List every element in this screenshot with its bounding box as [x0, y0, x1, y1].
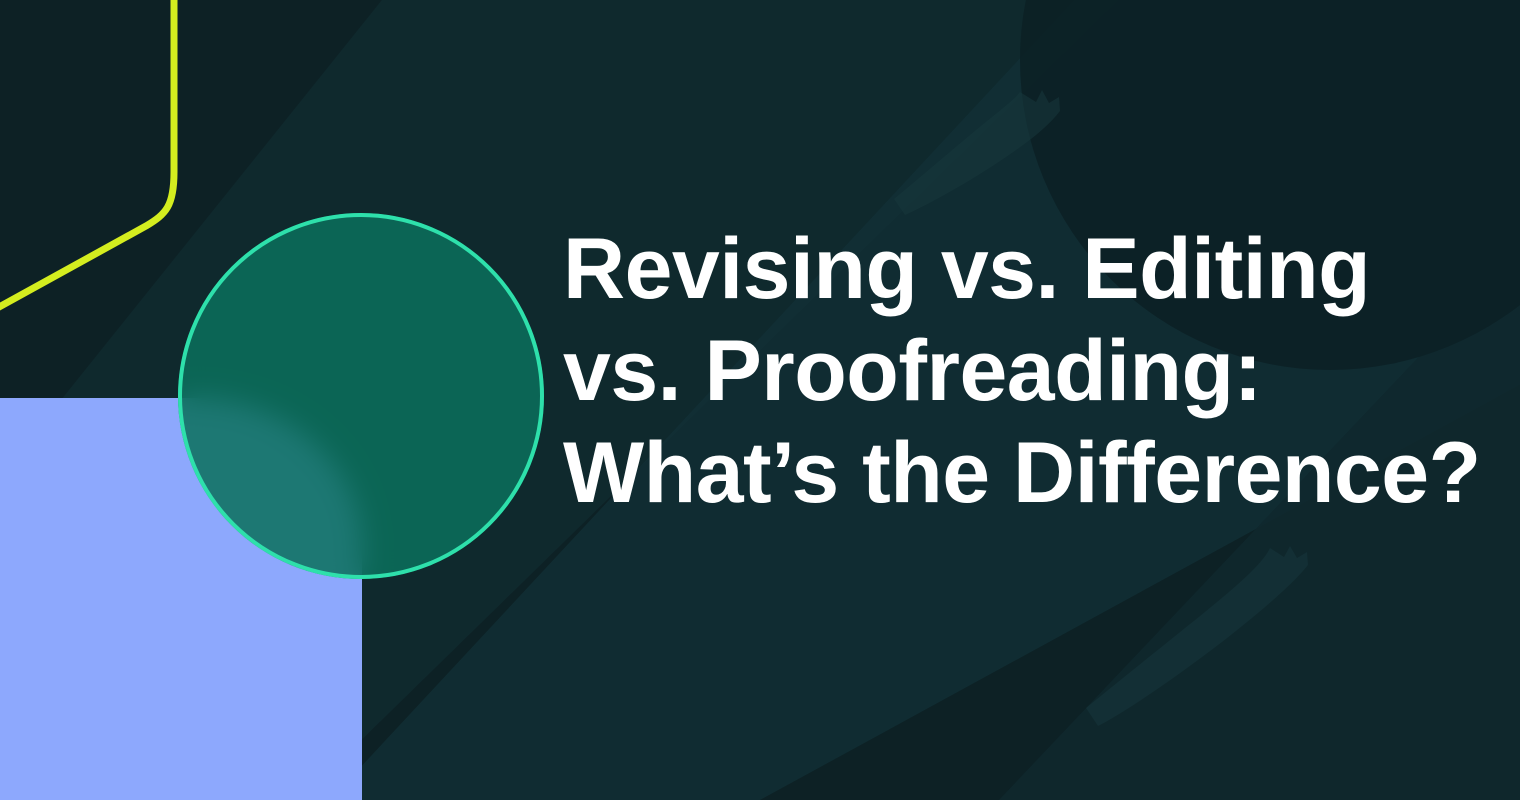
teal-glass-circle [178, 213, 544, 579]
silhouette-watermark-upper [894, 90, 1060, 215]
banner-canvas: Revising vs. Editing vs. Proofreading: W… [0, 0, 1520, 800]
page-title: Revising vs. Editing vs. Proofreading: W… [563, 218, 1493, 525]
silhouette-watermark-lower [1086, 546, 1308, 726]
curved-accent-line [0, 0, 174, 312]
circle-ring [178, 213, 544, 579]
